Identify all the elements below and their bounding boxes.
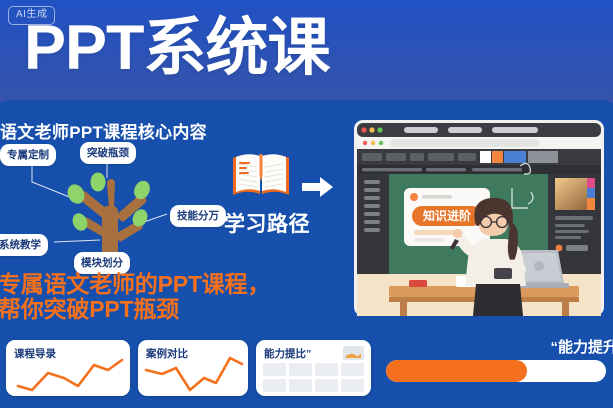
- mini-card-title: 能力提比”: [264, 346, 311, 361]
- grid-cell: [315, 363, 338, 376]
- teacher-chalkboard-illustration: 知识进阶: [352, 118, 606, 318]
- mini-card-course-index[interactable]: 课程导录: [6, 340, 130, 396]
- content-panel-surface: 语文老师PPT课程核心内容: [0, 100, 613, 408]
- learning-path-label: 学习路径: [224, 208, 310, 238]
- grid-cell: [315, 379, 338, 392]
- thumb-glyph: [343, 346, 364, 360]
- progress-label: “能力提升: [550, 336, 613, 357]
- learning-path-group: 学习路径: [224, 148, 339, 253]
- grid-cell: [289, 379, 312, 392]
- grid-cell: [341, 379, 364, 392]
- grid-cell: [341, 363, 364, 376]
- ai-generated-badge: AI生成: [8, 6, 55, 25]
- grid-cell: [263, 363, 286, 376]
- mini-card-ability-grid[interactable]: 能力提比”: [256, 340, 371, 396]
- progress-bar-track[interactable]: [386, 360, 606, 382]
- mini-card-title: 案例对比: [146, 346, 188, 361]
- promo-headline-line-2: 帮你突破PPT瓶颈: [0, 297, 270, 322]
- tree-tag-custom: 专属定制: [0, 144, 56, 166]
- poster-canvas: AI生成 PPT系统课 语文老师PPT课程核心内容: [0, 0, 613, 408]
- mini-card-title: 课程导录: [14, 346, 56, 361]
- progress-bar-fill: [386, 360, 527, 382]
- content-panel: 语文老师PPT课程核心内容: [0, 100, 613, 408]
- grid-cell: [263, 379, 286, 392]
- grid-cell: [289, 363, 312, 376]
- illustration-svg: 知识进阶: [352, 118, 606, 318]
- arrow-right-icon: [302, 176, 334, 198]
- page-title: PPT系统课: [24, 11, 330, 85]
- image-thumb-icon: [343, 346, 364, 360]
- mini-card-case-compare[interactable]: 案例对比: [138, 340, 248, 396]
- promo-headline: 专属语文老师的PPT课程， 帮你突破PPT瓶颈: [0, 272, 270, 322]
- open-book-icon: [230, 150, 292, 200]
- tree-tag-system: 系统教学: [0, 234, 48, 256]
- tree-tag-breakthrough: 突破瓶颈: [80, 142, 136, 164]
- course-structure-tree: 专属定制 突破瓶颈 技能分万 系统教学 模块划分: [0, 142, 242, 262]
- section-heading: 语文老师PPT课程核心内容: [0, 118, 207, 143]
- promo-headline-line-1: 专属语文老师的PPT课程，: [0, 272, 270, 297]
- tree-tag-skill: 技能分万: [170, 205, 226, 227]
- slide-badge-text: 知识进阶: [422, 208, 472, 223]
